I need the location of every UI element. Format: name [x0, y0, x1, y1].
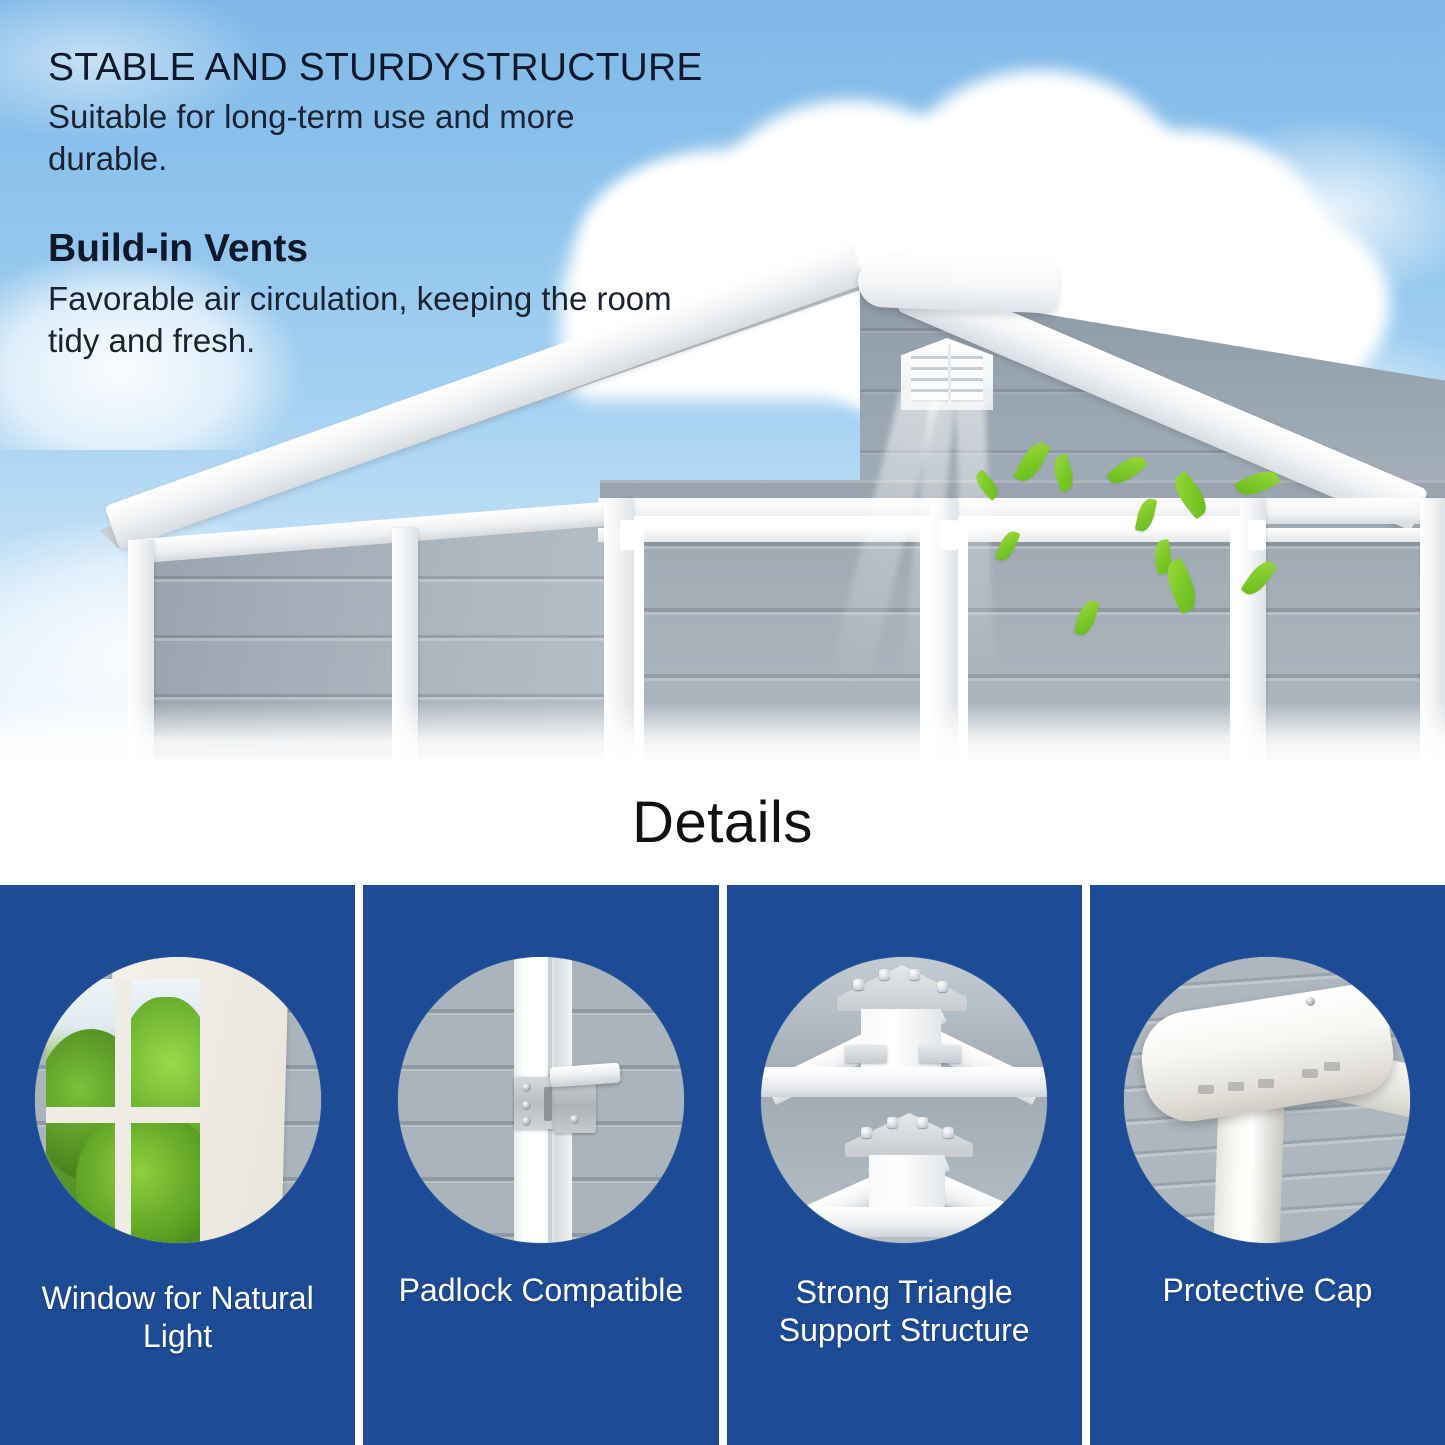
detail-panels: Window for Natural Light Padlock Compati… [0, 885, 1445, 1445]
screw-1 [522, 1083, 531, 1092]
bolt-3 [909, 969, 920, 980]
feature-title-2: Build-in Vents [48, 227, 703, 272]
bolt-6 [887, 1117, 898, 1128]
shed-door-bracket-3 [1248, 520, 1266, 550]
angle-bracket-left [845, 1045, 887, 1063]
detail-image-window [35, 957, 321, 1243]
cap-vent-slot-5 [1324, 1062, 1340, 1071]
detail-caption-cap: Protective Cap [1152, 1271, 1382, 1309]
padlock-slot [544, 1087, 552, 1121]
detail-caption-truss: Strong Triangle Support Structure [727, 1273, 1082, 1350]
feature-body-2: Favorable air circulation, keeping the r… [48, 278, 688, 362]
details-heading: Details [632, 789, 813, 856]
details-heading-band: Details [0, 760, 1445, 885]
purlin-lower [761, 1207, 1047, 1237]
detail-panel-window[interactable]: Window for Natural Light [0, 885, 355, 1445]
cap-vent-slot-3 [1258, 1079, 1274, 1088]
hero-bottom-fade [0, 702, 1445, 772]
shed-door-bracket-1 [620, 520, 638, 550]
detail-panel-truss[interactable]: Strong Triangle Support Structure [727, 885, 1082, 1445]
bolt-4 [937, 981, 948, 992]
shed-ridge-cap [857, 255, 1059, 314]
bolt-8 [943, 1127, 954, 1138]
product-feature-page: STABLE AND STURDYSTRUCTURE Suitable for … [0, 0, 1445, 1445]
cap-vent-slot-1 [1198, 1085, 1214, 1094]
corner-post [1214, 1096, 1285, 1243]
detail-image-cap [1124, 957, 1410, 1243]
detail-caption-window: Window for Natural Light [0, 1279, 355, 1356]
hero-copy: STABLE AND STURDYSTRUCTURE Suitable for … [48, 46, 703, 362]
vent-mullion [948, 344, 951, 402]
detail-image-padlock [398, 957, 684, 1243]
feature-body-1: Suitable for long-term use and more dura… [48, 96, 688, 180]
cap-vent-slot-4 [1302, 1069, 1318, 1078]
angle-bracket-right [919, 1045, 961, 1063]
feature-title-1: STABLE AND STURDYSTRUCTURE [48, 46, 703, 90]
bolt-2 [879, 969, 890, 980]
detail-image-truss [761, 957, 1047, 1243]
window-mullion-horizontal [46, 1107, 200, 1123]
bolt-1 [853, 979, 864, 990]
feature-block-2: Build-in Vents Favorable air circulation… [48, 227, 703, 362]
cap-vent-slot-2 [1228, 1082, 1244, 1091]
purlin-upper [761, 1067, 1047, 1097]
detail-caption-padlock: Padlock Compatible [389, 1271, 694, 1309]
screw-3 [522, 1117, 531, 1126]
screw-4 [570, 1115, 579, 1124]
bolt-5 [861, 1127, 872, 1138]
hero-product-image: STABLE AND STURDYSTRUCTURE Suitable for … [0, 0, 1445, 772]
detail-panel-padlock[interactable]: Padlock Compatible [363, 885, 718, 1445]
screw-2 [522, 1101, 531, 1110]
detail-panel-cap[interactable]: Protective Cap [1090, 885, 1445, 1445]
bolt-7 [917, 1117, 928, 1128]
